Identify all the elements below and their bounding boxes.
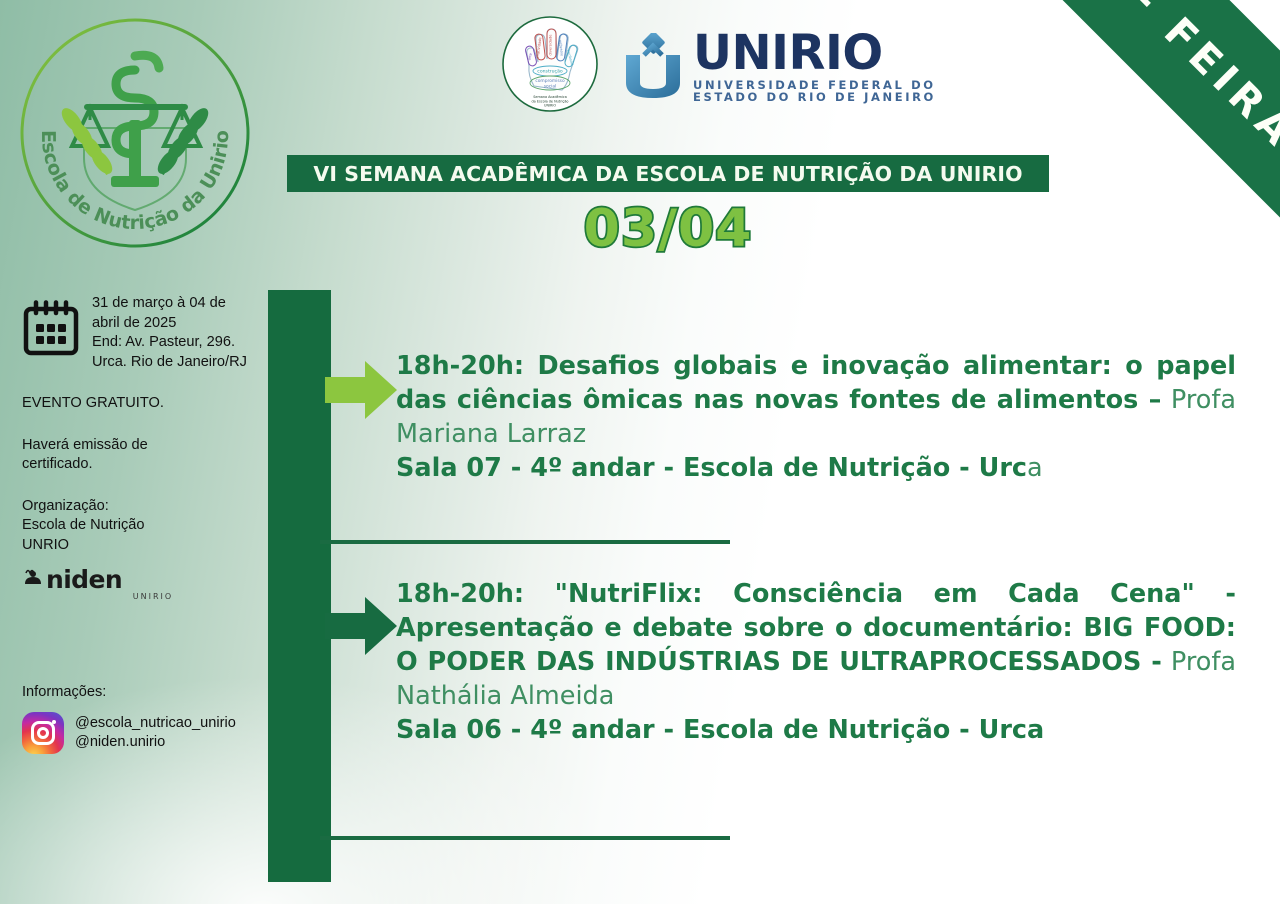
address-line-2: Urca. Rio de Janeiro/RJ [92,353,247,373]
instagram-handle-2[interactable]: @niden.unirio [75,733,236,752]
arrow-right-icon [325,357,397,423]
organization-line-1: Organização: [22,497,262,517]
event-1-location: Sala 07 - 4º andar - Escola de Nutrição … [396,453,1027,483]
svg-text:construção: construção [537,69,563,75]
date-address-text: 31 de março à 04 de abril de 2025 End: A… [92,292,247,372]
unirio-logo: UNIRIO UNIVERSIDADE FEDERAL DO ESTADO DO… [622,29,936,104]
timeline-vertical-bar [268,290,331,882]
svg-text:diversidade: diversidade [549,34,553,56]
certificate-line-2: certificado. [22,455,262,475]
header-logos: arte criatividade diversidade inovação p… [500,14,936,114]
organization-note: Organização: Escola de Nutrição UNRIO [22,497,262,556]
svg-text:compromisso: compromisso [535,78,565,84]
instagram-handle-1[interactable]: @escola_nutricao_unirio [75,714,236,733]
contact-label: Informações: [22,684,272,700]
day-date-heading: 03/04 [287,199,1049,259]
event-1-title: 18h-20h: Desafios globais e inovação ali… [396,351,1236,415]
timeline-divider-1 [320,540,730,544]
date-address-row: 31 de março à 04 de abril de 2025 End: A… [22,292,262,372]
event-2-title: 18h-20h: "NutriFlix: Consciência em Cada… [396,579,1236,677]
event-info-column: 31 de março à 04 de abril de 2025 End: A… [22,292,262,601]
free-event-note: EVENTO GRATUITO. [22,394,262,414]
unirio-u-mark-icon [622,33,684,99]
niden-sub-label: UNIRIO [44,592,262,601]
svg-text:social: social [544,84,557,90]
niden-logo: niden UNIRIO [22,567,262,601]
poster-canvas: Escola de Nutrição da Unirio arte [0,0,1280,904]
weekday-ribbon-label: QUINTA - FEIRA [959,0,1280,159]
timeline-divider-2 [320,836,730,840]
event-title-banner: VI SEMANA ACADÊMICA DA ESCOLA DE NUTRIÇÃ… [287,155,1049,192]
svg-text:Semana Acadêmica: Semana Acadêmica [533,95,567,99]
event-block-2: 18h-20h: "NutriFlix: Consciência em Cada… [396,578,1236,748]
niden-bird-icon [22,567,44,589]
date-line-1: 31 de março à 04 de [92,294,247,314]
arrow-right-icon [325,593,397,659]
calendar-icon [22,300,80,356]
event-1-location-tail: a [1027,453,1043,483]
certificate-note: Haverá emissão de certificado. [22,436,262,475]
certificate-line-1: Haverá emissão de [22,436,262,456]
instagram-handles: @escola_nutricao_unirio @niden.unirio [75,714,236,752]
unirio-wordmark: UNIRIO [693,29,936,77]
semana-academica-hand-logo: arte criatividade diversidade inovação p… [500,14,600,114]
niden-wordmark: niden [46,568,122,592]
organization-line-2: Escola de Nutrição [22,516,262,536]
organization-line-3: UNRIO [22,536,262,556]
unirio-subtitle-line2: ESTADO DO RIO DE JANEIRO [693,92,936,104]
date-line-2: abril de 2025 [92,314,247,334]
escola-nutricao-seal-logo: Escola de Nutrição da Unirio [12,8,258,258]
svg-text:UNIRIO: UNIRIO [544,104,556,108]
event-2-location: Sala 06 - 4º andar - Escola de Nutrição … [396,715,1044,745]
address-line-1: End: Av. Pasteur, 296. [92,333,247,353]
event-block-1: 18h-20h: Desafios globais e inovação ali… [396,350,1236,486]
instagram-icon[interactable] [22,712,64,754]
contact-section: Informações: @escola_nutricao_unirio @ni… [22,684,272,754]
event-title-text: VI SEMANA ACADÊMICA DA ESCOLA DE NUTRIÇÃ… [313,162,1022,186]
